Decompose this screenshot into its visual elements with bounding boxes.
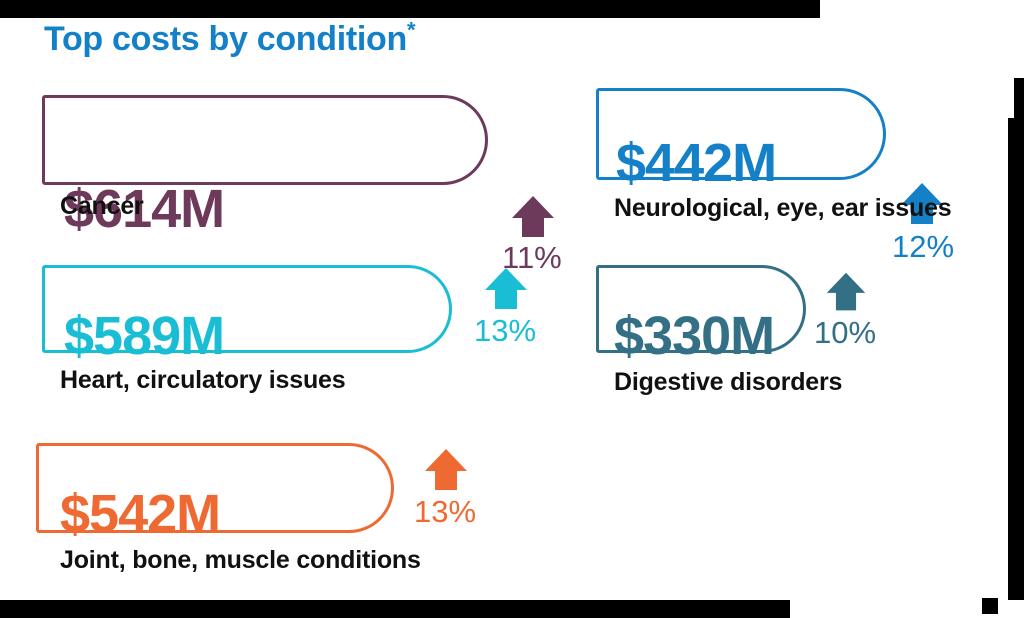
infographic-canvas: Top costs by condition* $614M 11% Cancer…	[0, 0, 1024, 618]
amount-heart: $589M	[64, 309, 224, 363]
stat-card-digestive[interactable]: $330M 10% Digestive disorders	[596, 265, 996, 400]
amount-digestive: $330M	[614, 309, 774, 363]
page-title-text: Top costs by condition	[44, 20, 407, 58]
arrow-up-icon	[509, 193, 557, 241]
condition-label-neurological: Neurological, eye, ear issues	[614, 196, 951, 221]
crop-bar-bottom	[0, 600, 790, 618]
value-pill-cancer	[42, 95, 488, 185]
stat-card-joint[interactable]: $542M 13% Joint, bone, muscle conditions	[36, 443, 581, 578]
arrow-up-icon	[824, 270, 868, 314]
stat-card-neurological[interactable]: $442M 12% Neurological, eye, ear issues	[596, 88, 996, 223]
stat-card-heart[interactable]: $589M 13% Heart, circulatory issues	[42, 265, 587, 395]
percent-digestive: 10%	[814, 317, 876, 348]
crop-bar-top	[0, 0, 820, 18]
condition-label-joint: Joint, bone, muscle conditions	[60, 548, 421, 573]
amount-joint: $542M	[60, 487, 220, 541]
crop-bar-right-nub	[982, 598, 998, 614]
percent-neurological: 12%	[892, 231, 954, 262]
footnote-marker: *	[407, 18, 415, 43]
arrow-up-icon	[422, 446, 470, 494]
condition-label-heart: Heart, circulatory issues	[60, 368, 345, 393]
crop-bar-right-lower	[1008, 118, 1024, 600]
condition-label-digestive: Digestive disorders	[614, 370, 842, 395]
arrow-up-icon	[482, 265, 530, 313]
page-title: Top costs by condition*	[44, 20, 415, 59]
percent-joint: 13%	[414, 496, 476, 527]
condition-label-cancer: Cancer	[60, 194, 144, 219]
stat-card-cancer[interactable]: $614M 11% Cancer	[42, 95, 587, 220]
crop-bar-right-upper	[1014, 78, 1024, 120]
amount-neurological: $442M	[616, 136, 776, 190]
percent-heart: 13%	[474, 315, 536, 346]
